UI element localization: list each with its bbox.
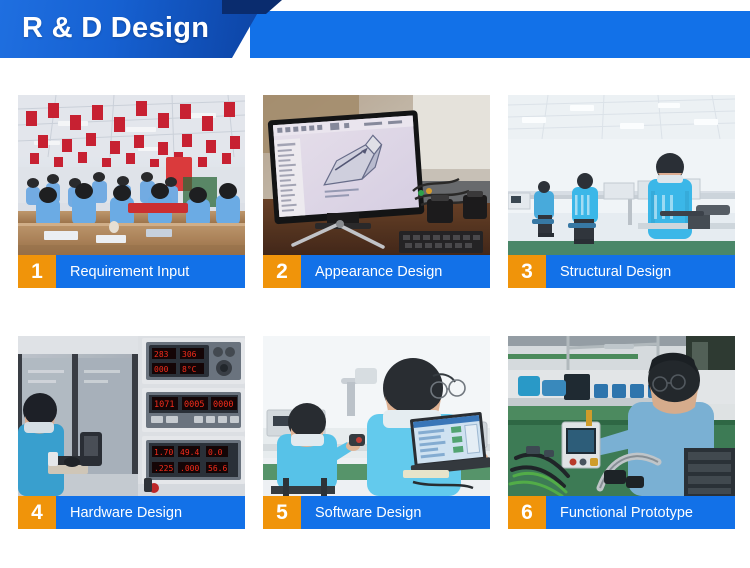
step-number-3: 3 xyxy=(508,255,546,288)
caption-2: 2 Appearance Design xyxy=(263,255,490,288)
photo-requirement-input-art xyxy=(18,95,245,255)
caption-3: 3 Structural Design xyxy=(508,255,735,288)
page-header: R & D Design xyxy=(0,0,750,58)
process-card-3[interactable]: 3 Structural Design xyxy=(508,95,735,288)
step-label-1: Requirement Input xyxy=(56,255,245,288)
photo-software-design xyxy=(263,336,490,496)
caption-5: 5 Software Design xyxy=(263,496,490,529)
photo-appearance-design-art xyxy=(263,95,490,255)
step-number-2: 2 xyxy=(263,255,301,288)
process-row-top: 1 Requirement Input xyxy=(18,95,736,288)
process-grid: 1 Requirement Input xyxy=(18,95,736,529)
header-accent-band xyxy=(250,11,750,58)
photo-appearance-design xyxy=(263,95,490,255)
photo-software-design-art xyxy=(263,336,490,496)
step-number-1: 1 xyxy=(18,255,56,288)
process-row-bottom: 283 306 000 8°C xyxy=(18,336,736,529)
caption-4: 4 Hardware Design xyxy=(18,496,245,529)
step-label-4: Hardware Design xyxy=(56,496,245,529)
caption-6: 6 Functional Prototype xyxy=(508,496,735,529)
photo-functional-prototype-art xyxy=(508,336,735,496)
process-card-2[interactable]: 2 Appearance Design xyxy=(263,95,490,288)
page-title: R & D Design xyxy=(22,0,209,58)
step-label-5: Software Design xyxy=(301,496,490,529)
photo-structural-design xyxy=(508,95,735,255)
caption-1: 1 Requirement Input xyxy=(18,255,245,288)
process-card-1[interactable]: 1 Requirement Input xyxy=(18,95,245,288)
step-number-6: 6 xyxy=(508,496,546,529)
rd-design-page: R & D Design xyxy=(0,0,750,568)
step-label-3: Structural Design xyxy=(546,255,735,288)
step-number-4: 4 xyxy=(18,496,56,529)
process-card-5[interactable]: 5 Software Design xyxy=(263,336,490,529)
photo-hardware-design: 283 306 000 8°C xyxy=(18,336,245,496)
photo-requirement-input xyxy=(18,95,245,255)
step-label-2: Appearance Design xyxy=(301,255,490,288)
step-label-6: Functional Prototype xyxy=(546,496,735,529)
photo-hardware-design-art: 283 306 000 8°C xyxy=(18,336,245,496)
photo-functional-prototype xyxy=(508,336,735,496)
step-number-5: 5 xyxy=(263,496,301,529)
process-card-4[interactable]: 283 306 000 8°C xyxy=(18,336,245,529)
process-card-6[interactable]: 6 Functional Prototype xyxy=(508,336,735,529)
photo-structural-design-art xyxy=(508,95,735,255)
